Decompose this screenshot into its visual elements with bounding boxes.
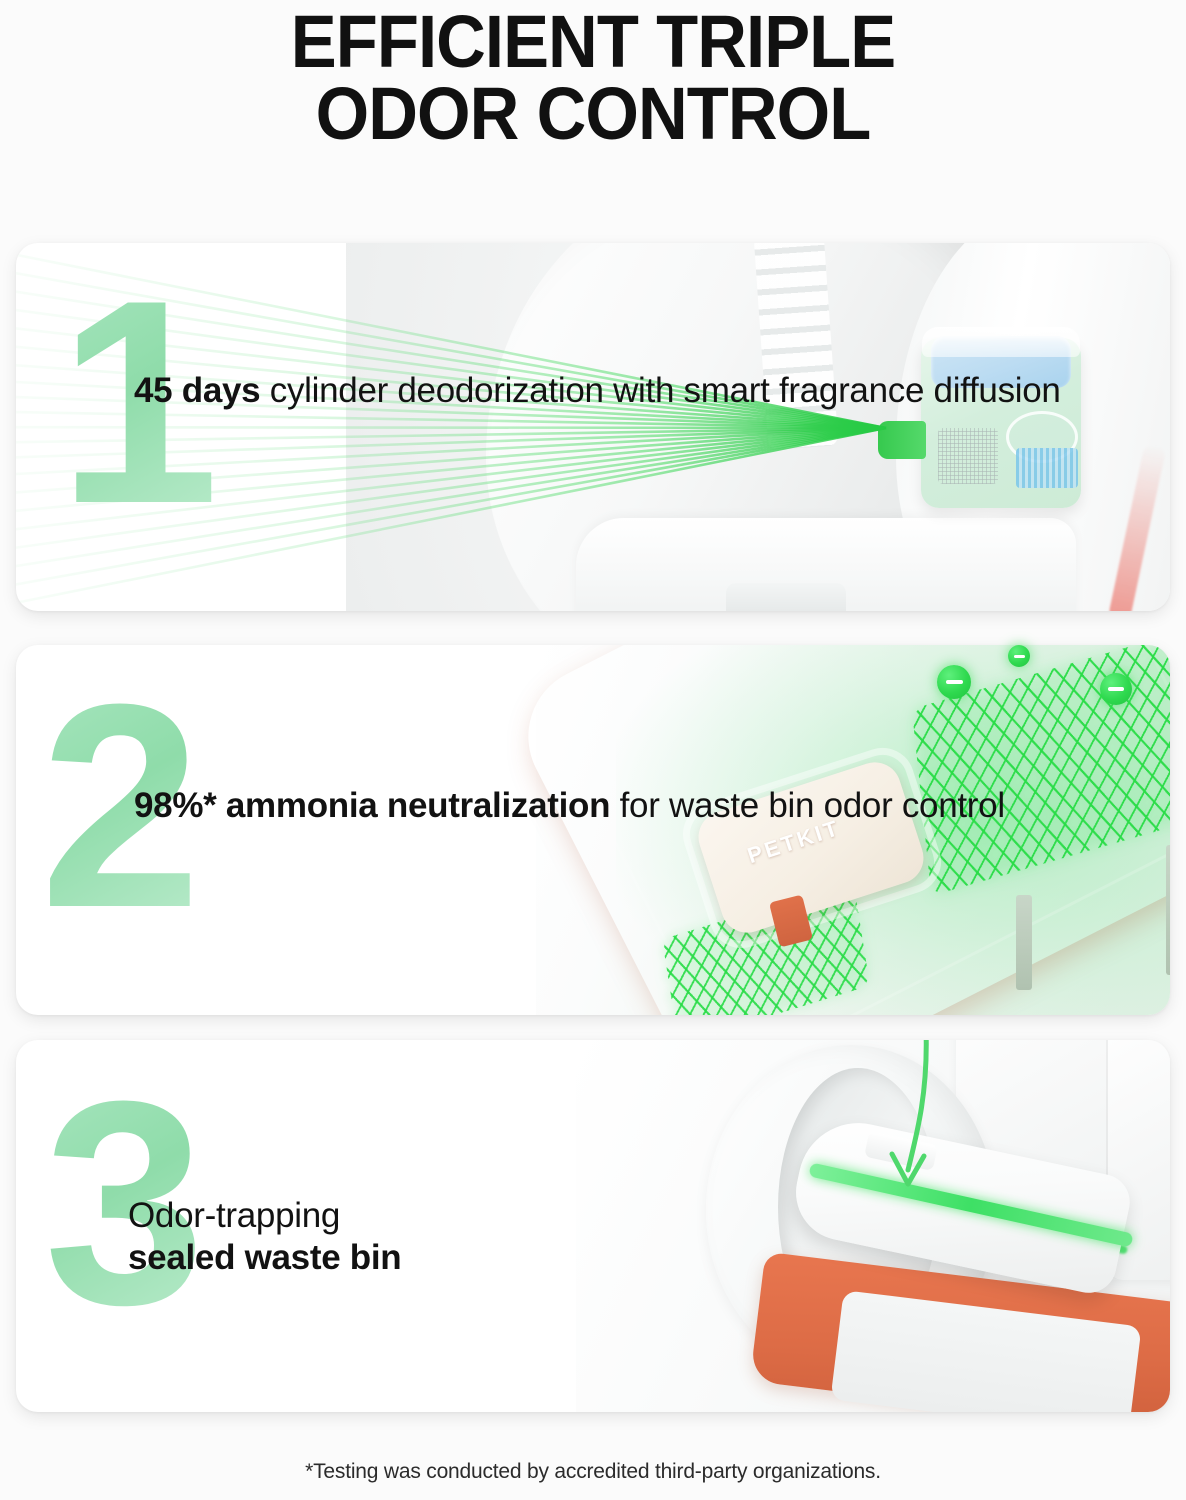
negative-ion-badge-icon <box>1008 645 1030 667</box>
feature-2-bold-text: 98%* ammonia neutralization <box>134 786 610 825</box>
feature-1-regular-text: cylinder deodorization with smart fragra… <box>260 371 1060 410</box>
negative-ion-badge-icon <box>1100 673 1132 705</box>
feature-card-3: 3 Odor-trapping sealed waste bin <box>16 1040 1170 1412</box>
fragrance-nozzle-icon <box>878 421 926 459</box>
feature-1-bold-text: 45 days <box>134 371 260 410</box>
feature-caption-3: Odor-trapping sealed waste bin <box>128 1195 401 1279</box>
feature-2-regular-text: for waste bin odor control <box>610 786 1005 825</box>
feature-3-bold-text: sealed waste bin <box>128 1238 401 1277</box>
negative-ion-badge-icon <box>937 665 971 699</box>
feature-3-regular-text: Odor-trapping <box>128 1196 340 1235</box>
page-title: EFFICIENT TRIPLE ODOR CONTROL <box>0 0 1186 150</box>
footnote-disclaimer: *Testing was conducted by accredited thi… <box>0 1460 1186 1484</box>
vent-mesh-icon <box>938 428 998 484</box>
feature-card-1: 1 45 days cylinder deodorization with sm… <box>16 243 1170 611</box>
downward-arrow-icon <box>856 1040 976 1220</box>
feature-card-2: PETKIT 2 98%* ammonia neutralization for… <box>16 645 1170 1015</box>
feature-caption-1: 45 days cylinder deodorization with smar… <box>134 370 1061 412</box>
feature-caption-2: 98%* ammonia neutralization for waste bi… <box>134 785 1005 827</box>
title-line-2: ODOR CONTROL <box>42 78 1145 150</box>
title-line-1: EFFICIENT TRIPLE <box>42 6 1145 78</box>
